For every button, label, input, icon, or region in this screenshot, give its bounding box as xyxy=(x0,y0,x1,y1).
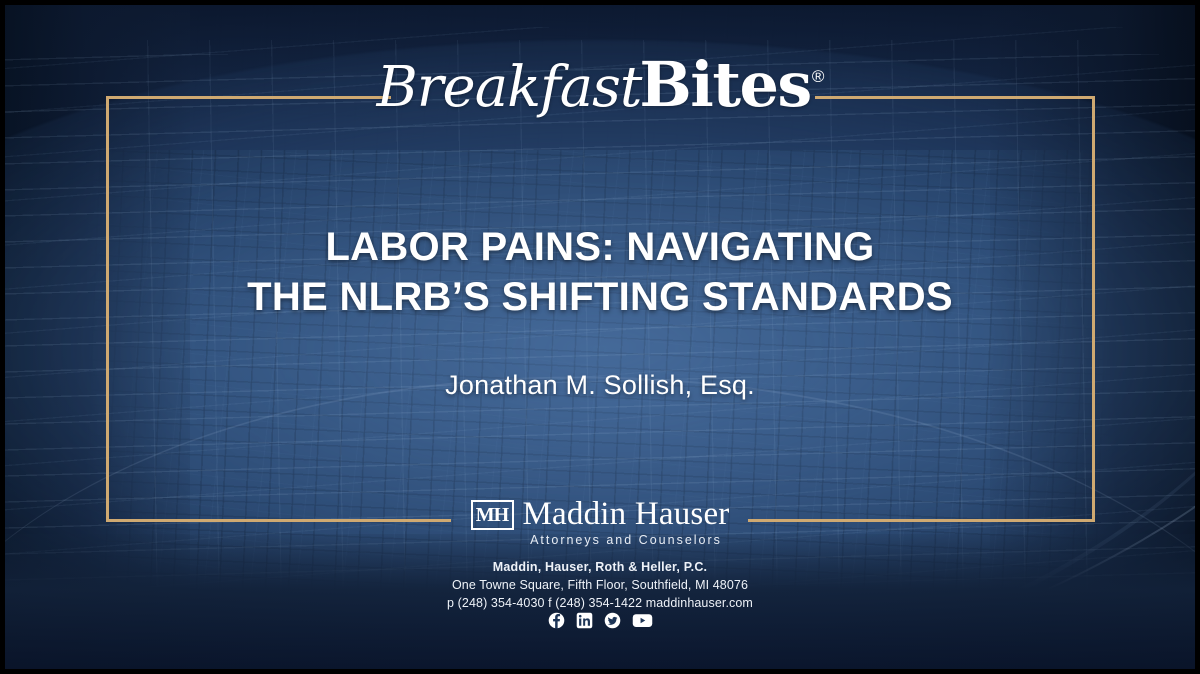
page-title-line-2: THE NLRB’S SHIFTING STANDARDS xyxy=(0,272,1200,322)
mh-monogram-letters: MH xyxy=(476,505,508,525)
contact-phone-web: p (248) 354-4030 f (248) 354-1422 maddin… xyxy=(0,594,1200,612)
firm-logo-name: Maddin Hauser xyxy=(523,497,730,531)
maddin-hauser-logo: MH Maddin Hauser Attorneys and Counselor… xyxy=(0,497,1200,548)
breakfast-bites-logo: BreakfastBites® xyxy=(0,54,1200,116)
twitter-icon[interactable] xyxy=(604,612,621,629)
breakfast-bites-script-word: Breakfast xyxy=(377,55,642,120)
letterbox-top xyxy=(0,0,1200,5)
linkedin-icon[interactable] xyxy=(576,612,593,629)
letterbox-right xyxy=(1195,0,1200,674)
social-links xyxy=(0,612,1200,629)
contact-firm-name: Maddin, Hauser, Roth & Heller, P.C. xyxy=(0,558,1200,576)
firm-logo-tagline: Attorneys and Counselors xyxy=(523,532,730,548)
breakfast-bites-bold-word: Bites xyxy=(639,48,810,121)
registered-trademark-symbol: ® xyxy=(812,67,825,86)
presentation-title-slide: BreakfastBites® LABOR PAINS: NAVIGATING … xyxy=(0,0,1200,674)
mh-monogram-icon: MH xyxy=(471,500,514,530)
facebook-icon[interactable] xyxy=(548,612,565,629)
presenter-name: Jonathan M. Sollish, Esq. xyxy=(0,370,1200,401)
page-title-line-1: LABOR PAINS: NAVIGATING xyxy=(0,222,1200,272)
contact-address: One Towne Square, Fifth Floor, Southfiel… xyxy=(0,576,1200,594)
letterbox-bottom xyxy=(0,669,1200,674)
page-title: LABOR PAINS: NAVIGATING THE NLRB’S SHIFT… xyxy=(0,222,1200,322)
contact-block: Maddin, Hauser, Roth & Heller, P.C. One … xyxy=(0,558,1200,612)
letterbox-left xyxy=(0,0,5,674)
youtube-icon[interactable] xyxy=(632,612,653,629)
